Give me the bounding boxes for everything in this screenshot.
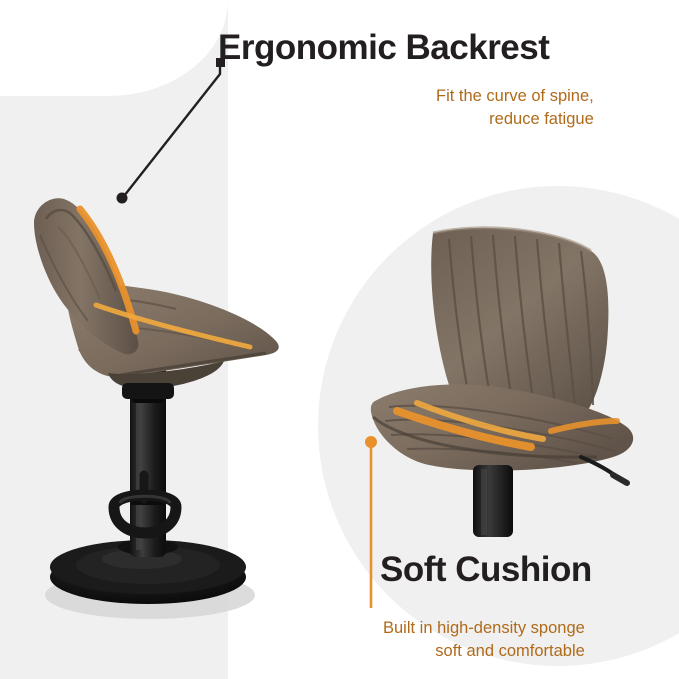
bar-stool-side-view <box>10 95 300 625</box>
callout-body-cushion-line1: Built in high-density sponge <box>383 617 585 640</box>
callout-body-backrest-line1: Fit the curve of spine, <box>436 85 594 108</box>
bar-stool-seat-closeup <box>345 225 675 535</box>
callout-body-backrest-line2: reduce fatigue <box>436 108 594 131</box>
callout-title-backrest: Ergonomic Backrest <box>218 28 549 68</box>
callout-body-cushion-line2: soft and comfortable <box>383 640 585 663</box>
callout-body-cushion: Built in high-density sponge soft and co… <box>383 617 585 663</box>
stool-column-right <box>473 465 513 537</box>
stool-height-lever-right <box>581 457 627 483</box>
callout-body-backrest: Fit the curve of spine, reduce fatigue <box>436 85 594 131</box>
callout-title-cushion: Soft Cushion <box>380 550 592 590</box>
product-feature-graphic: Ergonomic Backrest Fit the curve of spin… <box>0 0 679 679</box>
